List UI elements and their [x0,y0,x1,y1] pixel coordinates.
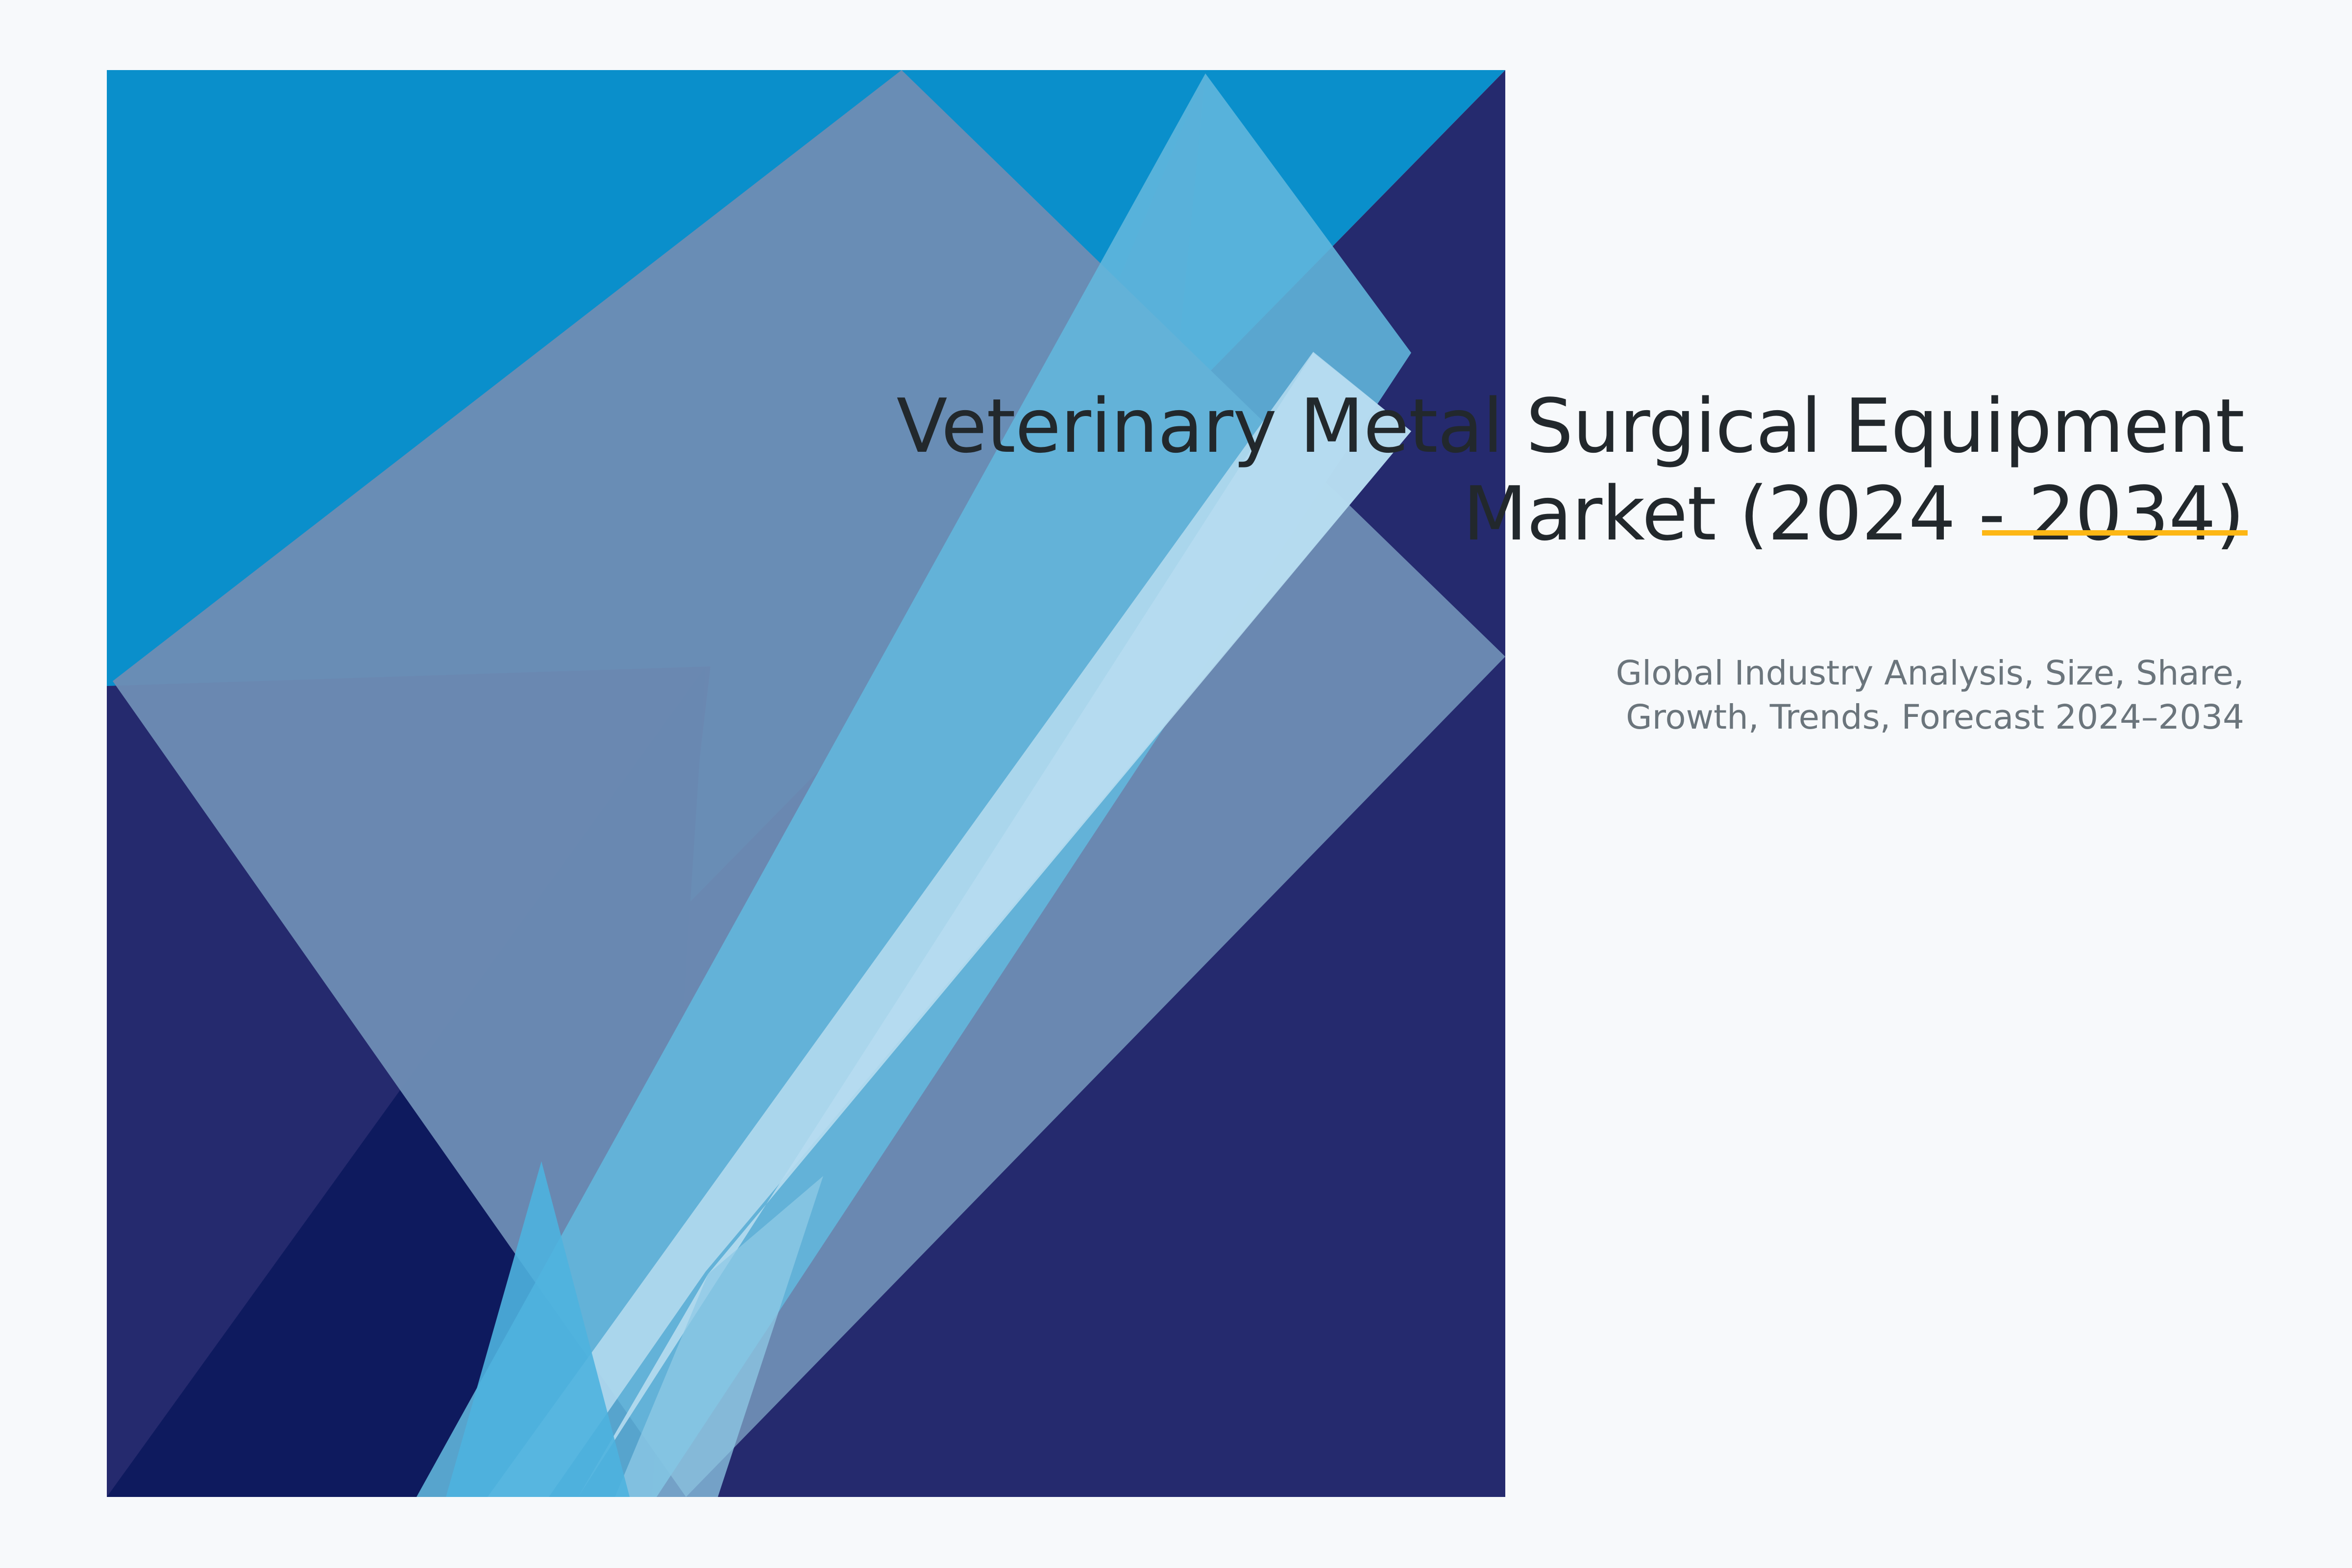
abstract-geometric-cover-graphic [0,0,2352,1568]
accent-underline-bar [1982,530,2248,536]
subtitle-line-1: Global Industry Analysis, Size, Share, [1323,652,2244,696]
subtitle-line-2: Growth, Trends, Forecast 2024–2034 [1323,696,2244,740]
cover-page: Veterinary Metal Surgical Equipment Mark… [0,0,2352,1568]
artwork-layers [107,70,1505,1497]
title-accent-underline [1982,530,2248,536]
page-subtitle: Global Industry Analysis, Size, Share, G… [1323,652,2244,739]
title-line-1: Veterinary Metal Surgical Equipment [897,383,2244,469]
title-line-2: Market (2024 - 2034) [1463,470,2244,557]
